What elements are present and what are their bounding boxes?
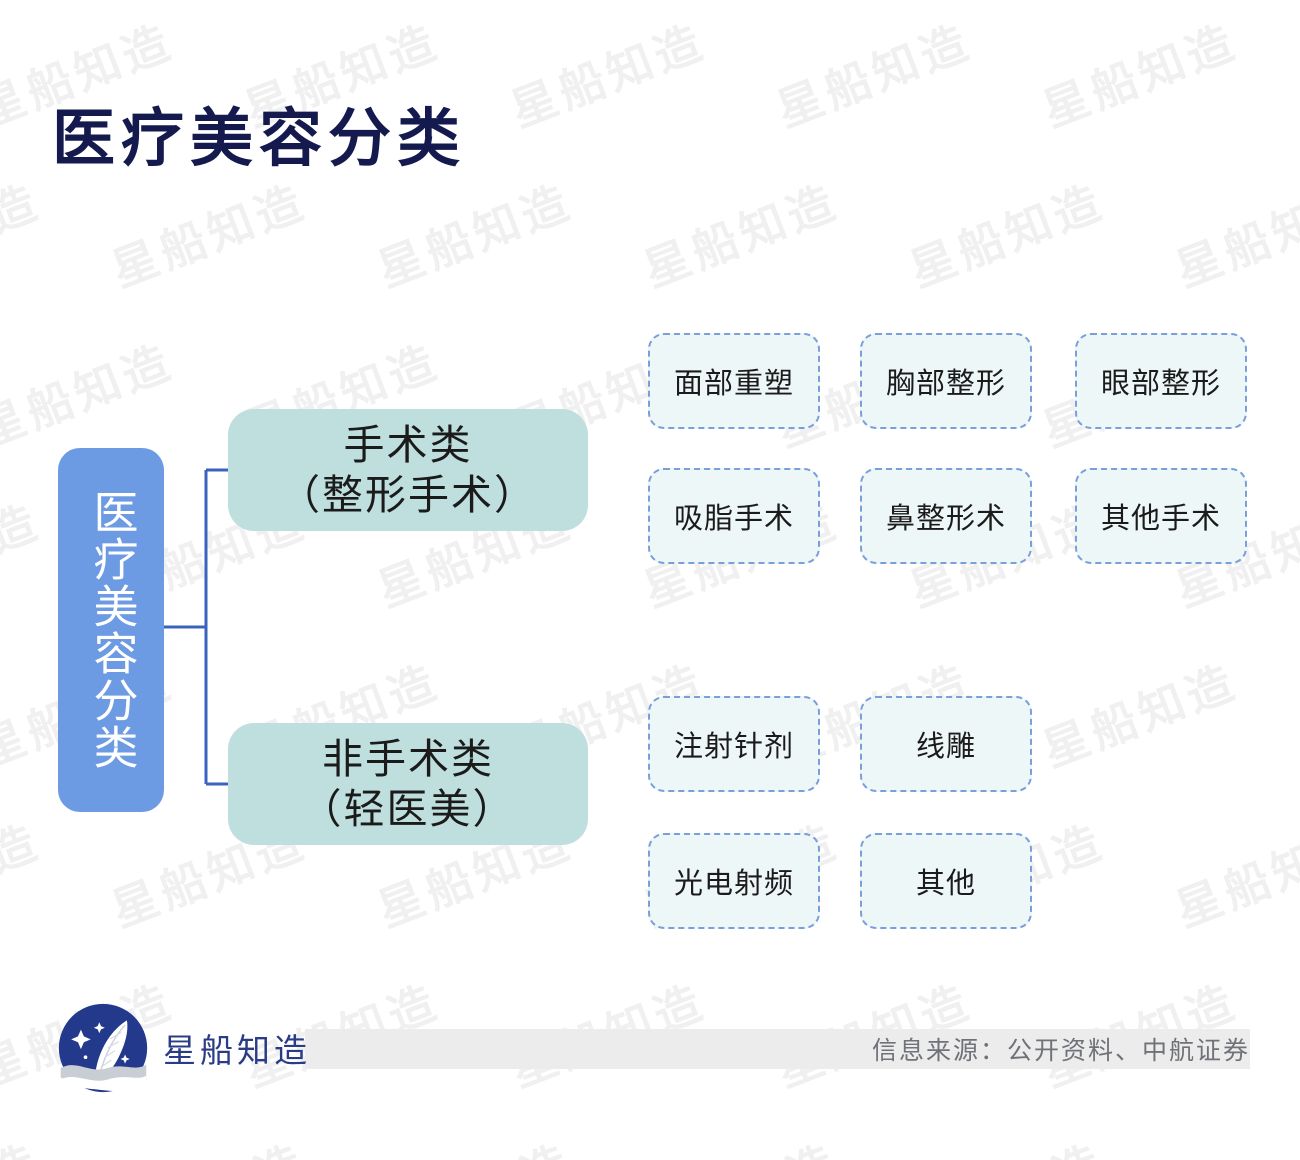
leaf-node[interactable]: 光电射频	[648, 833, 820, 929]
watermark-text: 星船知造	[1165, 806, 1300, 941]
watermark-text: 星船知造	[101, 166, 315, 301]
category-node-nonsurgical[interactable]: 非手术类 （轻医美）	[228, 723, 588, 845]
leaf-label: 胸部整形	[886, 360, 1006, 402]
leaf-label: 注射针剂	[674, 723, 794, 765]
watermark-text: 星船知造	[0, 1126, 49, 1160]
leaf-node[interactable]: 眼部整形	[1075, 333, 1247, 429]
leaf-label: 眼部整形	[1101, 360, 1221, 402]
leaf-node[interactable]: 线雕	[860, 696, 1032, 792]
leaf-node[interactable]: 吸脂手术	[648, 468, 820, 564]
leaf-label: 吸脂手术	[674, 495, 794, 537]
leaf-node[interactable]: 鼻整形术	[860, 468, 1032, 564]
watermark-text: 星船知造	[0, 486, 49, 621]
watermark-text: 星船知造	[1032, 646, 1246, 781]
category-nonsurgical-line1: 非手术类	[322, 734, 494, 784]
watermark-text: 星船知造	[0, 166, 49, 301]
watermark-text: 星船知造	[766, 6, 980, 141]
category-surgical-line2: （整形手术）	[279, 470, 537, 520]
category-nonsurgical-line2: （轻医美）	[301, 784, 516, 834]
leaf-label: 面部重塑	[674, 360, 794, 402]
watermark-text: 星船知造	[101, 1126, 315, 1160]
leaf-node[interactable]: 注射针剂	[648, 696, 820, 792]
watermark-text: 星船知造	[633, 166, 847, 301]
brand-lockup: 星船知造	[57, 1000, 311, 1096]
leaf-node[interactable]: 其他	[860, 833, 1032, 929]
watermark-text: 星船知造	[0, 806, 49, 941]
source-note: 信息来源：公开资料、中航证券	[872, 1029, 1250, 1069]
root-node-medical-aesthetics[interactable]: 医疗美容分类	[58, 448, 164, 812]
leaf-label: 其他	[916, 860, 976, 902]
root-node-label: 医疗美容分类	[84, 489, 137, 771]
page-title: 医疗美容分类	[52, 108, 466, 171]
watermark-text: 星船知造	[633, 1126, 847, 1160]
watermark-text: 星船知造	[1032, 6, 1246, 141]
leaf-label: 鼻整形术	[886, 495, 1006, 537]
watermark-text: 星船知造	[500, 6, 714, 141]
watermark-text: 星船知造	[0, 326, 182, 461]
watermark-text: 星船知造	[899, 166, 1113, 301]
infographic-canvas: 星船知造星船知造星船知造星船知造星船知造星船知造星船知造星船知造星船知造星船知造…	[0, 0, 1300, 1160]
watermark-text: 星船知造	[899, 1126, 1113, 1160]
category-surgical-line1: 手术类	[344, 420, 473, 470]
watermark-text: 星船知造	[367, 166, 581, 301]
leaf-node[interactable]: 其他手术	[1075, 468, 1247, 564]
category-node-surgical[interactable]: 手术类 （整形手术）	[228, 409, 588, 531]
leaf-node[interactable]: 面部重塑	[648, 333, 820, 429]
leaf-label: 线雕	[916, 723, 976, 765]
starship-feather-logo-icon	[57, 1002, 149, 1094]
leaf-label: 其他手术	[1101, 495, 1221, 537]
leaf-node[interactable]: 胸部整形	[860, 333, 1032, 429]
watermark-text: 星船知造	[1165, 166, 1300, 301]
brand-name: 星船知造	[163, 1024, 311, 1072]
watermark-text: 星船知造	[1165, 1126, 1300, 1160]
leaf-label: 光电射频	[674, 860, 794, 902]
watermark-text: 星船知造	[367, 1126, 581, 1160]
